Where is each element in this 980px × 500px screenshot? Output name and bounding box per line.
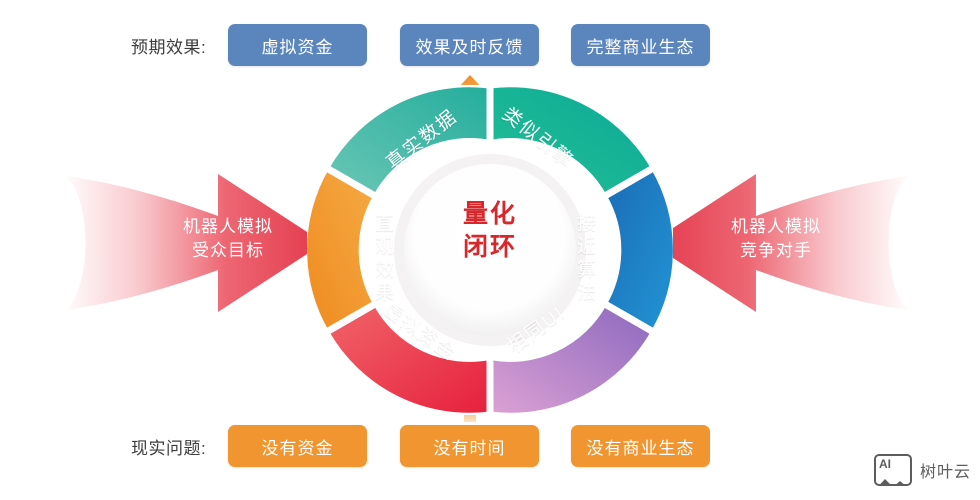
real-problem-box-1[interactable]: 没有资金 [228, 425, 367, 467]
donut-hub [404, 164, 576, 336]
mountain-glyph [874, 475, 912, 486]
left-arrow-robot-simulates-audience [66, 168, 326, 318]
expected-effect-label: 预期效果: [131, 33, 206, 58]
real-problem-box-2[interactable]: 没有时间 [400, 425, 539, 467]
real-problem-box-3[interactable]: 没有商业生态 [571, 425, 710, 467]
donut-segments [307, 85, 673, 415]
right-arrow-robot-simulates-competitor [648, 168, 908, 318]
quantitative-closed-loop-donut: 直观效果 真实数据 类似引擎 接近算法 相同UI 虚拟资金 量化 闭环 [307, 85, 673, 415]
watermark: AI 树叶云 [874, 454, 971, 486]
ai-image-icon: AI [874, 454, 912, 486]
expected-effect-box-3[interactable]: 完整商业生态 [571, 24, 710, 66]
real-problem-label: 现实问题: [131, 434, 206, 459]
expected-effect-box-1[interactable]: 虚拟资金 [228, 24, 367, 66]
diagram-canvas: 预期效果: 现实问题: 虚拟资金 效果及时反馈 完整商业生态 没有资金 没有时间… [0, 0, 980, 500]
expected-effect-box-2[interactable]: 效果及时反馈 [400, 24, 539, 66]
watermark-text: 树叶云 [920, 458, 971, 482]
